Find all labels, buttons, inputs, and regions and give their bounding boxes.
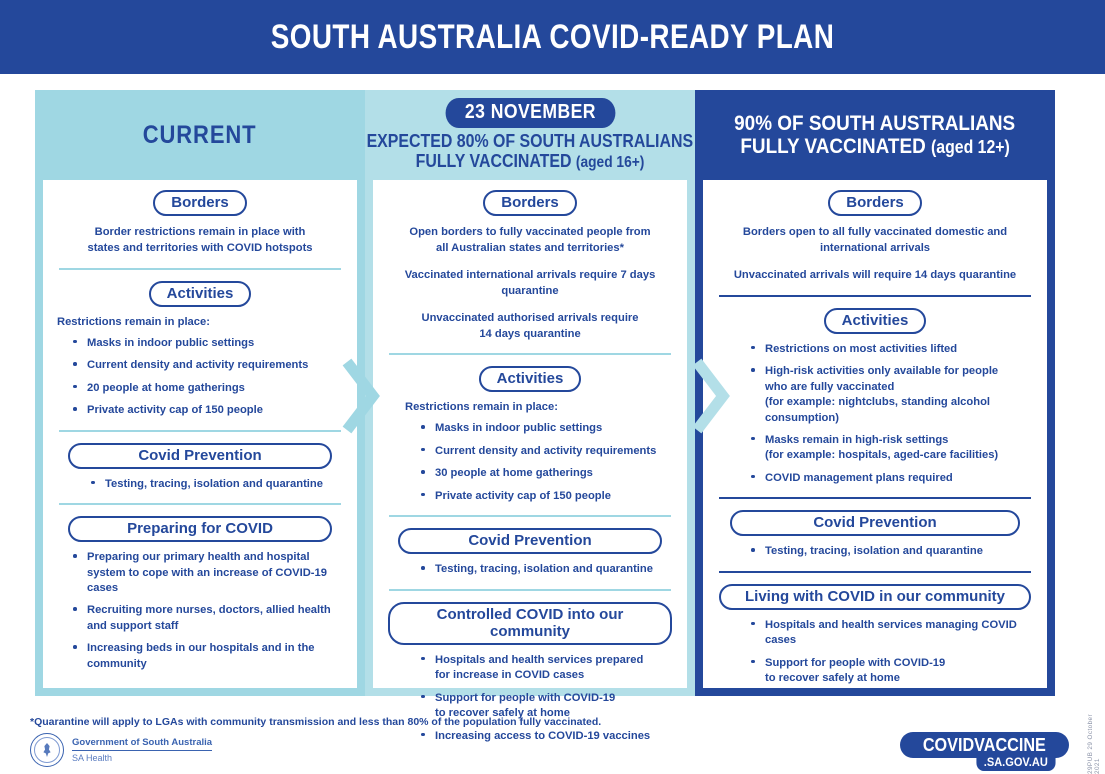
list-item: Increasing access to COVID-19 vaccines [421, 729, 673, 744]
divider [719, 295, 1031, 297]
column-23-november-header: 23 NOVEMBER EXPECTED 80% OF SOUTH AUSTRA… [373, 90, 687, 180]
column-23-november: 23 NOVEMBER EXPECTED 80% OF SOUTH AUSTRA… [365, 90, 695, 696]
list-item: Private activity cap of 150 people [421, 489, 673, 504]
government-label: Government of South Australia [72, 737, 212, 751]
column-90-percent-frame: 90% OF SOUTH AUSTRALIANS FULLY VACCINATE… [695, 90, 1055, 696]
section-label-preparing-for-covid[interactable]: Preparing for COVID [68, 516, 331, 542]
column-90-percent-line2: FULLY VACCINATED (aged 12+) [740, 135, 1009, 158]
page-title: SOUTH AUSTRALIA COVID-READY PLAN [99, 0, 1005, 74]
list-item: Current density and activity requirement… [73, 358, 343, 373]
section-label-living-with-covid[interactable]: Living with COVID in our community [719, 584, 1032, 610]
section-bullets-covid-prevention: Testing, tracing, isolation and quaranti… [57, 477, 343, 492]
section-text-borders-2: Unvaccinated arrivals will require 14 da… [717, 268, 1033, 284]
section-label-activities[interactable]: Activities [149, 281, 252, 307]
section-text-borders-3: Unvaccinated authorised arrivals require… [387, 311, 673, 343]
sa-health-label: SA Health [72, 753, 212, 763]
section-label-covid-prevention[interactable]: Covid Prevention [730, 510, 1021, 536]
list-item: Increasing beds in our hospitals and in … [73, 641, 343, 672]
section-bullets-living-with-covid: Hospitals and health services managing C… [717, 618, 1033, 687]
covidvaccine-badge-main: COVIDVACCINE [923, 735, 1046, 756]
section-label-activities[interactable]: Activities [824, 308, 927, 334]
column-23-november-card: Borders Open borders to fully vaccinated… [373, 180, 687, 688]
column-23-november-line1: EXPECTED 80% OF SOUTH AUSTRALIANS [367, 131, 693, 151]
section-bullets-activities: Masks in indoor public settingsCurrent d… [57, 336, 343, 419]
column-90-percent-header: 90% OF SOUTH AUSTRALIANS FULLY VACCINATE… [703, 90, 1047, 180]
list-item: Masks remain in high-risk settings(for e… [751, 433, 1033, 464]
section-bullets-covid-prevention: Testing, tracing, isolation and quaranti… [717, 544, 1033, 559]
list-item: COVID management plans required [751, 471, 1033, 486]
section-bullets-activities: Restrictions on most activities liftedHi… [717, 342, 1033, 487]
column-23-november-line2: FULLY VACCINATED (aged 16+) [416, 151, 645, 172]
list-item: Hospitals and health services managing C… [751, 618, 1033, 649]
print-code: 29PUB 29 October 2021 [1087, 706, 1101, 774]
section-text-borders-1: Open borders to fully vaccinated people … [387, 225, 673, 257]
list-item: 30 people at home gatherings [421, 466, 673, 481]
section-text-borders-1: Borders open to all fully vaccinated dom… [717, 225, 1033, 257]
column-current-frame: CURRENT Borders Border restrictions rema… [35, 90, 365, 696]
section-text-borders-2: Vaccinated international arrivals requir… [387, 268, 673, 300]
divider [59, 430, 341, 432]
list-item: Private activity cap of 150 people [73, 403, 343, 418]
footnote: *Quarantine will apply to LGAs with comm… [30, 716, 601, 728]
plan-board: CURRENT Borders Border restrictions rema… [0, 74, 1105, 712]
list-item: Testing, tracing, isolation and quaranti… [91, 477, 343, 492]
list-item: Masks in indoor public settings [73, 336, 343, 351]
divider [719, 571, 1031, 573]
section-label-borders[interactable]: Borders [153, 190, 247, 216]
list-item: Masks in indoor public settings [421, 421, 673, 436]
column-90-percent: 90% OF SOUTH AUSTRALIANS FULLY VACCINATE… [695, 90, 1055, 696]
divider [389, 589, 671, 591]
sa-health-logo: Government of South Australia SA Health [30, 733, 212, 767]
chevron-right-icon-1 [341, 358, 381, 434]
section-bullets-covid-prevention: Testing, tracing, isolation and quaranti… [387, 562, 673, 577]
column-23-november-line2-sub: (aged 16+) [576, 154, 644, 171]
list-item: Testing, tracing, isolation and quaranti… [751, 544, 1033, 559]
divider [59, 268, 341, 270]
section-label-covid-prevention[interactable]: Covid Prevention [398, 528, 661, 554]
divider [389, 353, 671, 355]
column-23-november-frame: 23 NOVEMBER EXPECTED 80% OF SOUTH AUSTRA… [365, 90, 695, 696]
section-bullets-controlled-covid: Hospitals and health services preparedfo… [387, 653, 673, 744]
divider [719, 497, 1031, 499]
date-pill: 23 NOVEMBER [445, 98, 615, 128]
list-item: Hospitals and health services preparedfo… [421, 653, 673, 684]
list-item: High-risk activities only available for … [751, 364, 1033, 426]
list-item: Current density and activity requirement… [421, 444, 673, 459]
list-item: Preparing our primary health and hospita… [73, 550, 343, 596]
section-bullets-activities: Masks in indoor public settingsCurrent d… [387, 421, 673, 504]
divider [389, 515, 671, 517]
column-23-november-line2-bold: FULLY VACCINATED [416, 150, 572, 171]
section-label-borders[interactable]: Borders [483, 190, 577, 216]
column-current-title: CURRENT [143, 121, 257, 150]
list-item: Recruiting more nurses, doctors, allied … [73, 603, 343, 634]
divider [59, 503, 341, 505]
column-current: CURRENT Borders Border restrictions rema… [35, 90, 365, 696]
section-label-controlled-covid[interactable]: Controlled COVID into our community [388, 602, 671, 645]
list-item: Support for people with COVID-19to recov… [751, 656, 1033, 687]
section-bullets-preparing-for-covid: Preparing our primary health and hospita… [57, 550, 343, 672]
section-lead-activities: Restrictions remain in place: [405, 401, 673, 413]
section-label-covid-prevention[interactable]: Covid Prevention [68, 443, 331, 469]
column-90-percent-card: Borders Borders open to all fully vaccin… [703, 180, 1047, 688]
covidvaccine-badge[interactable]: COVIDVACCINE .SA.GOV.AU [900, 732, 1069, 758]
chevron-right-icon-2 [691, 358, 731, 434]
column-90-percent-line2-sub: (aged 12+) [931, 137, 1010, 157]
list-item: Testing, tracing, isolation and quaranti… [421, 562, 673, 577]
column-90-percent-line2-bold: FULLY VACCINATED [740, 134, 925, 158]
column-90-percent-line1: 90% OF SOUTH AUSTRALIANS [734, 112, 1015, 135]
page-header-bar: SOUTH AUSTRALIA COVID-READY PLAN [0, 0, 1105, 74]
section-lead-activities: Restrictions remain in place: [57, 316, 343, 328]
list-item: Restrictions on most activities lifted [751, 342, 1033, 357]
south-australia-crest-icon [30, 733, 64, 767]
list-item: 20 people at home gatherings [73, 381, 343, 396]
column-current-header: CURRENT [43, 90, 357, 180]
section-label-borders[interactable]: Borders [828, 190, 922, 216]
section-label-activities[interactable]: Activities [479, 366, 582, 392]
section-text-borders: Border restrictions remain in place with… [57, 225, 343, 257]
column-current-card: Borders Border restrictions remain in pl… [43, 180, 357, 688]
covidvaccine-badge-url: .SA.GOV.AU [977, 754, 1056, 771]
